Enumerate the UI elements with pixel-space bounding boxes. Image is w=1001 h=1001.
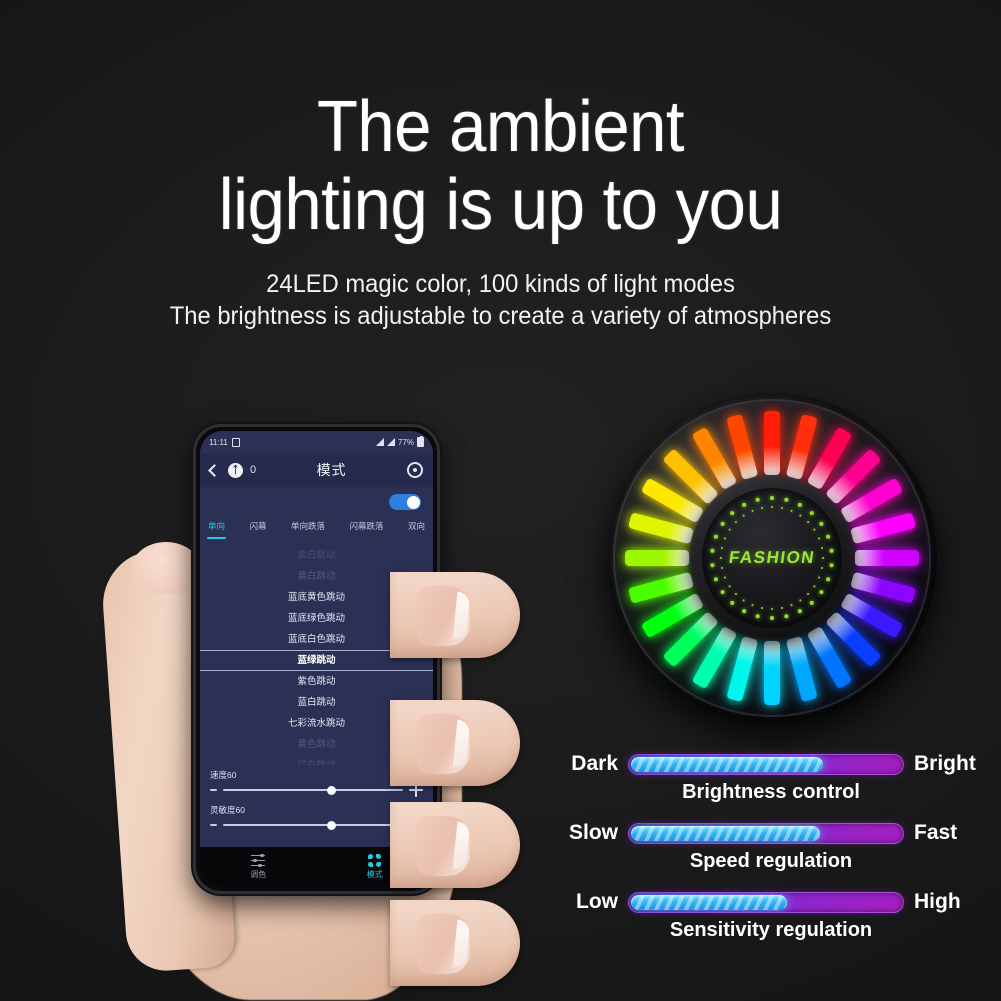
led-dot	[810, 601, 814, 605]
led-segment	[726, 414, 758, 480]
finger-middle	[390, 700, 520, 786]
sensitivity-slider[interactable]	[628, 892, 904, 913]
led-dot	[799, 599, 802, 602]
brightness-right-label: Bright	[914, 752, 976, 776]
tab-shuangxiang[interactable]: 双向	[407, 517, 426, 535]
toggle-knob	[407, 496, 420, 509]
app-bar-title: 模式	[256, 460, 407, 480]
promo-page: The ambient lighting is up to you 24LED …	[0, 0, 1001, 1001]
led-dot	[785, 614, 789, 618]
power-toggle-row	[200, 487, 433, 517]
speed-slider[interactable]	[628, 823, 904, 844]
led-dot	[742, 609, 746, 613]
led-dot	[751, 509, 754, 512]
grid-icon	[368, 854, 381, 867]
led-dot	[798, 503, 802, 507]
device-hub: FASHION	[690, 476, 854, 640]
sensitivity-caption: Sensitivity regulation	[556, 919, 976, 942]
gear-icon[interactable]	[407, 462, 423, 478]
minus-icon[interactable]	[210, 824, 217, 826]
led-dot	[735, 593, 738, 596]
led-segment	[850, 512, 916, 544]
sensitivity-slider[interactable]	[223, 824, 403, 826]
battery-percent: 77%	[398, 438, 414, 447]
led-dot	[756, 498, 760, 502]
speed-left-label: Slow	[556, 821, 618, 845]
list-item[interactable]: 紫色跳动	[200, 671, 433, 692]
brightness-caption: Brightness control	[556, 781, 976, 804]
led-dot	[781, 507, 784, 510]
led-dot	[721, 590, 725, 594]
tab-shanmu-diluo[interactable]: 闪幕跌落	[348, 517, 384, 535]
led-dot	[810, 511, 814, 515]
slider-knob[interactable]	[327, 821, 336, 830]
headline-line-1: The ambient	[317, 87, 684, 167]
signal-icon-2	[387, 438, 395, 446]
led-dot	[721, 522, 725, 526]
power-toggle[interactable]	[389, 494, 421, 510]
fingernail	[416, 816, 470, 876]
sensitivity-control-block: Low High Sensitivity regulation	[556, 890, 976, 942]
led-light-device: FASHION	[607, 393, 937, 723]
led-segment	[625, 550, 689, 566]
led-dot	[820, 522, 824, 526]
speed-right-label: Fast	[914, 821, 976, 845]
led-dot	[721, 547, 724, 550]
tab-shanmu[interactable]: 闪幕	[248, 517, 267, 535]
led-dot	[742, 514, 745, 517]
led-dot	[799, 514, 802, 517]
led-dot	[770, 496, 774, 500]
battery-icon	[417, 437, 424, 447]
led-dot	[830, 563, 834, 567]
sensitivity-slider-fill	[631, 895, 787, 910]
status-time: 11:11	[209, 438, 228, 447]
led-dot	[821, 547, 824, 550]
brightness-slider-fill	[631, 757, 823, 772]
led-dot	[826, 577, 830, 581]
speed-slider[interactable]	[223, 789, 403, 791]
led-dot	[807, 593, 810, 596]
signal-icon-1	[376, 438, 384, 446]
led-dot	[730, 601, 734, 605]
led-dot	[807, 521, 810, 524]
led-segment	[764, 641, 780, 705]
led-dot	[798, 609, 802, 613]
led-dot	[728, 585, 731, 588]
subtitle-line-1: 24LED magic color, 100 kinds of light mo…	[25, 268, 976, 300]
fingernail	[416, 914, 470, 974]
led-dot	[756, 614, 760, 618]
led-dot	[818, 576, 821, 579]
brightness-control-block: Dark Bright Brightness control	[556, 752, 976, 804]
led-dot	[742, 599, 745, 602]
back-arrow-icon[interactable]	[208, 464, 221, 477]
led-dot	[714, 535, 718, 539]
led-dot	[822, 557, 825, 560]
led-dot	[785, 498, 789, 502]
led-segment	[764, 411, 780, 475]
speed-caption: Speed regulation	[556, 850, 976, 873]
bluetooth-icon[interactable]: ᛏ	[228, 463, 243, 478]
led-segment	[855, 550, 919, 566]
minus-icon[interactable]	[210, 789, 217, 791]
nav-label: 调色	[250, 869, 266, 880]
led-dot	[790, 604, 793, 607]
led-dot	[771, 506, 774, 509]
fingernail	[416, 586, 470, 646]
led-dot	[781, 607, 784, 610]
led-dot	[813, 528, 816, 531]
led-dot	[790, 509, 793, 512]
list-item[interactable]: 紫白跳动	[200, 545, 433, 566]
slider-knob[interactable]	[327, 786, 336, 795]
led-dot	[720, 557, 723, 560]
led-dot	[818, 537, 821, 540]
speed-slider-fill	[631, 826, 820, 841]
tab-danxiang[interactable]: 单向	[207, 517, 226, 535]
mode-tabs: 单向 闪幕 单向跌落 闪幕跌落 双向	[200, 517, 433, 539]
finger-index	[390, 572, 520, 658]
led-dot	[723, 537, 726, 540]
fingernail	[416, 714, 470, 774]
finger-pinky	[390, 900, 520, 986]
speed-control-block: Slow Fast Speed regulation	[556, 821, 976, 873]
thumb-nail	[132, 542, 200, 594]
led-dot	[830, 549, 834, 553]
headline-line-2: lighting is up to you	[35, 166, 966, 244]
page-title: The ambient lighting is up to you	[35, 88, 966, 244]
led-dot	[820, 590, 824, 594]
led-dot	[826, 535, 830, 539]
led-dot	[711, 549, 715, 553]
led-dot	[821, 567, 824, 570]
tab-danxiang-diluo[interactable]: 单向跌落	[290, 517, 326, 535]
sliders-icon	[251, 855, 265, 867]
status-bar: 11:11 77%	[200, 431, 433, 453]
led-dot	[771, 608, 774, 611]
led-dot	[761, 507, 764, 510]
subtitle-line-2: The brightness is adjustable to create a…	[25, 300, 976, 332]
hand-holding-phone: 11:11 77% ᛏ 0 模式	[60, 400, 580, 1001]
led-dot	[742, 503, 746, 507]
led-dot	[721, 567, 724, 570]
brightness-left-label: Dark	[556, 752, 618, 776]
nav-label: 模式	[367, 869, 383, 880]
led-segment	[726, 636, 758, 702]
finger-ring	[390, 802, 520, 888]
nav-item-tiaose[interactable]: 调色	[200, 855, 317, 880]
led-dot	[714, 577, 718, 581]
led-dot	[728, 528, 731, 531]
led-dot	[730, 511, 734, 515]
sensitivity-right-label: High	[914, 890, 976, 914]
led-dot	[735, 521, 738, 524]
led-dot	[723, 576, 726, 579]
device-hub-inner: FASHION	[702, 488, 842, 628]
app-bar: ᛏ 0 模式	[200, 453, 433, 487]
led-dot	[761, 607, 764, 610]
sensitivity-left-label: Low	[556, 890, 618, 914]
led-dot	[751, 604, 754, 607]
led-dot	[770, 616, 774, 620]
led-segment	[628, 512, 694, 544]
sim-icon	[232, 438, 240, 447]
brightness-slider[interactable]	[628, 754, 904, 775]
led-dot	[813, 585, 816, 588]
led-dot	[711, 563, 715, 567]
